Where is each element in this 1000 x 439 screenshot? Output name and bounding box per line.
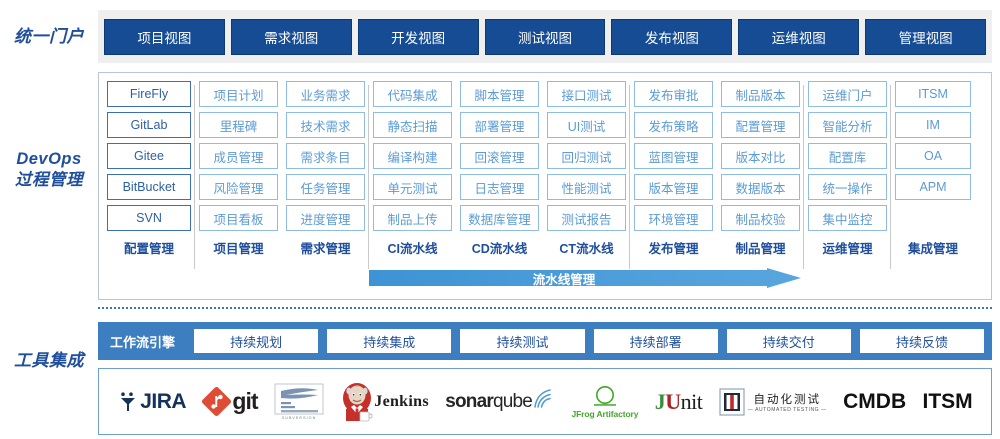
logo-sonarqube: sonarqube [445, 379, 555, 425]
capability-tile[interactable]: 环境管理 [634, 205, 713, 231]
jira-wordmark: JIRA [140, 390, 186, 414]
capability-column-label: 项目管理 [213, 238, 263, 257]
workflow-stage-6[interactable]: 持续反馈 [860, 329, 984, 353]
tile-stack: 脚本管理部署管理回滚管理日志管理数据库管理 [460, 81, 539, 231]
capability-tile[interactable]: 项目看板 [199, 205, 278, 231]
view-tab-1[interactable]: 项目视图 [104, 19, 225, 55]
view-tab-4[interactable]: 测试视图 [485, 19, 606, 55]
capability-tile[interactable]: 业务需求 [286, 81, 365, 107]
capability-column-项目管理: 项目计划里程碑成员管理风险管理项目看板项目管理 [195, 81, 282, 295]
capability-tile[interactable]: Gitee [107, 143, 191, 169]
capability-column-运维管理: 运维门户智能分析配置库统一操作集中监控运维管理 [804, 81, 891, 295]
capability-column-label: 需求管理 [300, 238, 350, 257]
capability-tile[interactable]: 脚本管理 [460, 81, 539, 107]
capability-group-pipelines: 代码集成静态扫描编译构建单元测试制品上传CI流水线脚本管理部署管理回滚管理日志管… [369, 81, 630, 295]
capability-column-label: 集成管理 [908, 238, 958, 257]
view-tab-5[interactable]: 发布视图 [611, 19, 732, 55]
capability-column-label: CT流水线 [559, 238, 613, 257]
tile-stack: 制品版本配置管理版本对比数据版本制品校验 [721, 81, 800, 231]
logo-subversion: SUBVERSION [274, 379, 324, 425]
capability-tile[interactable]: SVN [107, 205, 191, 231]
rail-label-devops: DevOps 过程管理 [0, 149, 98, 190]
workflow-stage-5[interactable]: 持续交付 [727, 329, 851, 353]
rail-label-devops-line2: 过程管理 [0, 170, 98, 191]
capability-column-label: 运维管理 [822, 238, 872, 257]
junit-wordmark: JUnit [655, 389, 703, 415]
capability-tile[interactable]: 成员管理 [199, 143, 278, 169]
capability-tile[interactable]: 运维门户 [808, 81, 887, 107]
section-divider [98, 307, 992, 309]
capability-tile[interactable]: 日志管理 [460, 174, 539, 200]
automated-testing-en: — AUTOMATED TESTING — [748, 407, 827, 413]
capability-tile[interactable]: 版本管理 [634, 174, 713, 200]
workflow-stage-4[interactable]: 持续部署 [594, 329, 718, 353]
capability-tile[interactable]: 单元测试 [373, 174, 452, 200]
capability-column-CD流水线: 脚本管理部署管理回滚管理日志管理数据库管理CD流水线 [456, 81, 543, 295]
capability-tile[interactable]: 制品版本 [721, 81, 800, 107]
capability-tile[interactable]: 智能分析 [808, 112, 887, 138]
capability-tile[interactable]: 集中监控 [808, 205, 887, 231]
tile-stack: ITSMIMOAAPM [895, 81, 971, 231]
capability-tile[interactable]: UI测试 [547, 112, 626, 138]
junit-letter-u: U [665, 389, 680, 414]
workflow-engine-label: 工作流引擎 [106, 332, 185, 351]
jfrog-wordmark: JFrog Artifactory [571, 409, 638, 419]
sonarqube-light-part: qube [493, 391, 532, 412]
jenkins-wordmark: Jenkins [374, 393, 429, 411]
workflow-stage-1[interactable]: 持续规划 [194, 329, 318, 353]
architecture-diagram: 统一门户 DevOps 过程管理 工具集成 项目视图需求视图开发视图测试视图发布… [0, 0, 1000, 439]
capability-tile[interactable]: 测试报告 [547, 205, 626, 231]
logo-automated-testing: 自动化测试 — AUTOMATED TESTING — [719, 379, 827, 425]
capability-tile[interactable]: 部署管理 [460, 112, 539, 138]
capability-tile[interactable]: 需求条目 [286, 143, 365, 169]
capability-tile[interactable]: 版本对比 [721, 143, 800, 169]
tool-logos-row: JIRA git SUBVERSION [98, 368, 992, 435]
capability-tile[interactable]: OA [895, 143, 971, 169]
capability-column-集成管理: ITSMIMOAAPM集成管理 [891, 81, 975, 295]
capability-column-label: 配置管理 [124, 238, 174, 257]
tile-spacer [895, 205, 971, 231]
capability-tile[interactable]: 数据版本 [721, 174, 800, 200]
logo-itsm: ITSM [923, 379, 973, 425]
itsm-wordmark: ITSM [923, 390, 973, 414]
capability-tile[interactable]: 蓝图管理 [634, 143, 713, 169]
subversion-icon: SUBVERSION [274, 383, 324, 421]
capability-tile[interactable]: 回滚管理 [460, 143, 539, 169]
rail-label-tools: 工具集成 [0, 350, 98, 371]
capability-column-制品管理: 制品版本配置管理版本对比数据版本制品校验制品管理 [717, 81, 804, 295]
jfrog-circle-icon [592, 384, 618, 408]
rail-label-devops-line1: DevOps [16, 150, 81, 168]
capability-tile[interactable]: GitLab [107, 112, 191, 138]
sonarqube-waves-icon [533, 387, 555, 411]
capability-tile[interactable]: 制品校验 [721, 205, 800, 231]
workflow-bar: 工作流引擎 持续规划持续集成持续测试持续部署持续交付持续反馈 [98, 322, 992, 360]
capability-tile[interactable]: APM [895, 174, 971, 200]
logo-git: git [202, 379, 257, 425]
capability-group-config: FireFlyGitLabGiteeBitBucketSVN配置管理 [103, 81, 195, 295]
capability-tile[interactable]: 统一操作 [808, 174, 887, 200]
tile-stack: FireFlyGitLabGiteeBitBucketSVN [107, 81, 191, 231]
capability-tile[interactable]: 回归测试 [547, 143, 626, 169]
automated-testing-cn: 自动化测试 [754, 391, 822, 407]
sonarqube-bold-part: sonar [445, 391, 493, 412]
capability-tile[interactable]: 数据库管理 [460, 205, 539, 231]
view-tab-2[interactable]: 需求视图 [231, 19, 352, 55]
rail-label-tools-text: 工具集成 [14, 351, 84, 370]
capability-group-integration: ITSMIMOAAPM集成管理 [891, 81, 975, 295]
capability-column-需求管理: 业务需求技术需求需求条目任务管理进度管理需求管理 [282, 81, 369, 295]
rail-label-portal-text: 统一门户 [14, 27, 84, 46]
jira-star-icon [117, 391, 139, 413]
capability-column-发布管理: 发布审批发布策略蓝图管理版本管理环境管理发布管理 [630, 81, 717, 295]
svg-text:SUBVERSION: SUBVERSION [282, 416, 317, 420]
capability-tile[interactable]: ITSM [895, 81, 971, 107]
view-tabs: 项目视图需求视图开发视图测试视图发布视图运维视图管理视图 [98, 10, 992, 63]
view-tab-6[interactable]: 运维视图 [738, 19, 859, 55]
capability-column-CI流水线: 代码集成静态扫描编译构建单元测试制品上传CI流水线 [369, 81, 456, 295]
capability-tile[interactable]: 技术需求 [286, 112, 365, 138]
capability-tile[interactable]: 制品上传 [373, 205, 452, 231]
view-tab-3[interactable]: 开发视图 [358, 19, 479, 55]
capability-tile[interactable]: BitBucket [107, 174, 191, 200]
tile-stack: 业务需求技术需求需求条目任务管理进度管理 [286, 81, 365, 231]
logo-jira: JIRA [117, 379, 186, 425]
tile-stack: 发布审批发布策略蓝图管理版本管理环境管理 [634, 81, 713, 231]
tile-stack: 接口测试UI测试回归测试性能测试测试报告 [547, 81, 626, 231]
rail-label-portal: 统一门户 [0, 26, 98, 47]
pipeline-arrow [369, 268, 801, 288]
workflow-stage-3[interactable]: 持续测试 [460, 329, 584, 353]
capability-group-release-artifact: 发布审批发布策略蓝图管理版本管理环境管理发布管理制品版本配置管理版本对比数据版本… [630, 81, 804, 295]
capability-tile[interactable]: 进度管理 [286, 205, 365, 231]
capability-tile[interactable]: 风险管理 [199, 174, 278, 200]
capability-column-CT流水线: 接口测试UI测试回归测试性能测试测试报告CT流水线 [543, 81, 630, 295]
logo-junit: JUnit [655, 379, 703, 425]
logo-cmdb: CMDB [843, 379, 906, 425]
capability-tile[interactable]: 代码集成 [373, 81, 452, 107]
capability-group-ops: 运维门户智能分析配置库统一操作集中监控运维管理 [804, 81, 891, 295]
capability-tile[interactable]: 编译构建 [373, 143, 452, 169]
capability-tile[interactable]: 任务管理 [286, 174, 365, 200]
capability-tile[interactable]: FireFly [107, 81, 191, 107]
capability-column-label: 发布管理 [648, 238, 698, 257]
capability-tile[interactable]: 性能测试 [547, 174, 626, 200]
tile-stack: 运维门户智能分析配置库统一操作集中监控 [808, 81, 887, 231]
logo-jenkins: Jenkins [340, 379, 429, 425]
capability-tile[interactable]: 静态扫描 [373, 112, 452, 138]
automated-testing-icon [719, 388, 745, 416]
capability-tile[interactable]: 接口测试 [547, 81, 626, 107]
capability-column-label: CD流水线 [472, 238, 528, 257]
capability-tile[interactable]: IM [895, 112, 971, 138]
junit-letter-j: J [655, 389, 666, 414]
logo-jfrog-artifactory: JFrog Artifactory [571, 379, 638, 425]
tile-stack: 代码集成静态扫描编译构建单元测试制品上传 [373, 81, 452, 231]
capability-tile[interactable]: 项目计划 [199, 81, 278, 107]
capability-column-label: CI流水线 [387, 238, 437, 257]
capability-tile[interactable]: 配置管理 [721, 112, 800, 138]
capability-column-label: 制品管理 [735, 238, 785, 257]
sonarqube-wordmark: sonarqube [445, 391, 532, 413]
capability-tile[interactable]: 发布策略 [634, 112, 713, 138]
jenkins-butler-icon [340, 381, 374, 423]
git-diamond-icon [202, 387, 232, 417]
capability-tile[interactable]: 配置库 [808, 143, 887, 169]
capability-tile[interactable]: 里程碑 [199, 112, 278, 138]
junit-letters-nit: nit [681, 389, 703, 414]
git-wordmark: git [232, 388, 257, 415]
devops-capability-panel: FireFlyGitLabGiteeBitBucketSVN配置管理项目计划里程… [98, 72, 992, 300]
capability-group-project-requirement: 项目计划里程碑成员管理风险管理项目看板项目管理业务需求技术需求需求条目任务管理进… [195, 81, 369, 295]
capability-tile[interactable]: 发布审批 [634, 81, 713, 107]
cmdb-wordmark: CMDB [843, 390, 906, 414]
workflow-stage-2[interactable]: 持续集成 [327, 329, 451, 353]
tile-stack: 项目计划里程碑成员管理风险管理项目看板 [199, 81, 278, 231]
view-tab-7[interactable]: 管理视图 [865, 19, 986, 55]
capability-column-配置管理: FireFlyGitLabGiteeBitBucketSVN配置管理 [103, 81, 195, 295]
